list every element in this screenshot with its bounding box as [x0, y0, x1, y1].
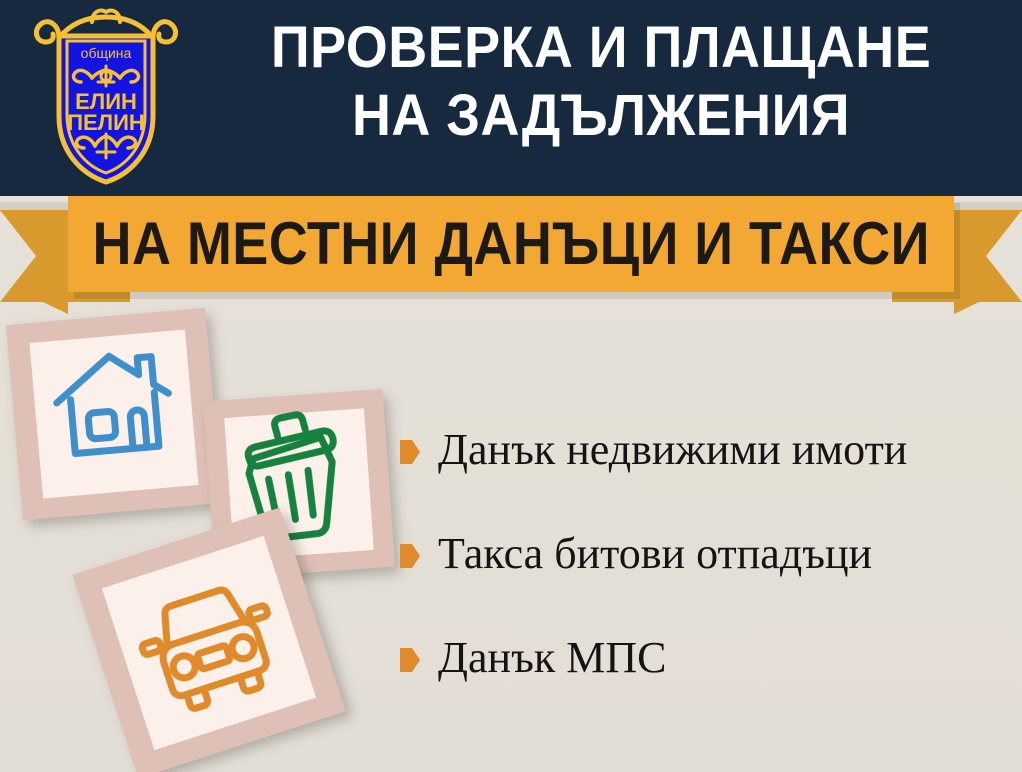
- bullet-arrow-icon: [400, 544, 420, 568]
- coat-of-arms-icon: община ЕЛИН ПЕЛИН: [26, 8, 186, 190]
- tax-type-list: Данък недвижими имоти Такса битови отпад…: [400, 424, 1010, 736]
- ribbon-fold-right: [954, 292, 1000, 314]
- stamp-card-property: [6, 308, 222, 521]
- ribbon-fold-left: [22, 292, 68, 314]
- poster-canvas: община ЕЛИН ПЕЛИН ПРОВЕРКА И ПЛАЩАНЕ НА …: [0, 0, 1022, 772]
- list-item-label: Данък МПС: [438, 632, 666, 684]
- ribbon-main-panel: НА МЕСТНИ ДАНЪЦИ И ТАКСИ: [68, 196, 954, 292]
- header-title-group: ПРОВЕРКА И ПЛАЩАНЕ НА ЗАДЪЛЖЕНИЯ: [196, 14, 1006, 150]
- ribbon-subtitle: НА МЕСТНИ ДАНЪЦИ И ТАКСИ: [92, 213, 929, 275]
- page-title-line-1: ПРОВЕРКА И ПЛАЩАНЕ: [224, 14, 977, 82]
- crest-logo: община ЕЛИН ПЕЛИН: [26, 8, 186, 190]
- list-item[interactable]: Такса битови отпадъци: [400, 528, 1010, 632]
- page-title-line-2: НА ЗАДЪЛЖЕНИЯ: [224, 82, 977, 150]
- list-item-label: Такса битови отпадъци: [438, 528, 872, 580]
- list-item[interactable]: Данък недвижими имоти: [400, 424, 1010, 528]
- header-band: община ЕЛИН ПЕЛИН ПРОВЕРКА И ПЛАЩАНЕ НА …: [0, 0, 1022, 196]
- stamp-card-house-graphic: [6, 308, 222, 521]
- bullet-arrow-icon: [400, 648, 420, 672]
- bullet-arrow-icon: [400, 440, 420, 464]
- ribbon-banner: НА МЕСТНИ ДАНЪЦИ И ТАКСИ: [0, 196, 1022, 312]
- crest-label-top: община: [81, 45, 132, 61]
- list-item[interactable]: Данък МПС: [400, 632, 1010, 736]
- crest-label-line-2: ПЕЛИН: [67, 110, 145, 135]
- list-item-label: Данък недвижими имоти: [438, 424, 907, 476]
